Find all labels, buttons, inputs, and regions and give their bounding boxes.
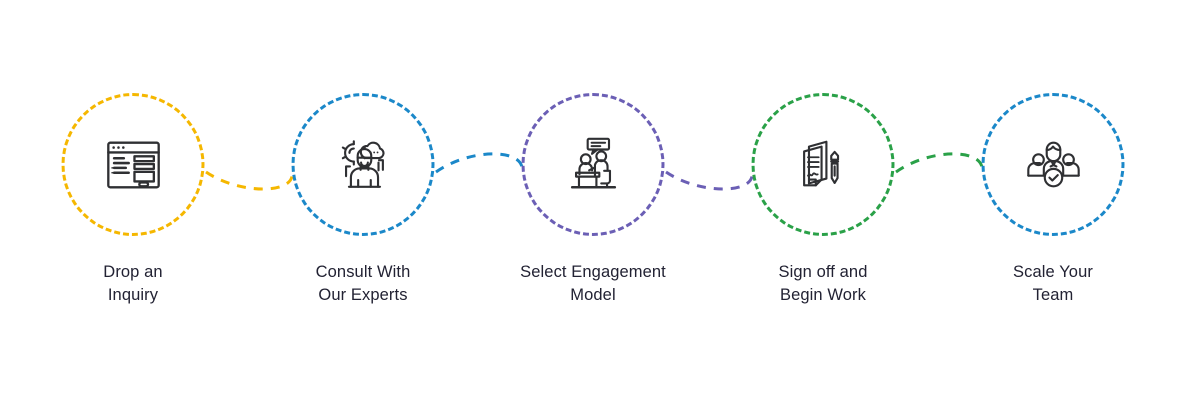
step-circle-2[interactable] bbox=[292, 93, 435, 236]
step-label-4: Sign off and Begin Work bbox=[723, 261, 923, 306]
step-circle-1[interactable] bbox=[62, 93, 205, 236]
step-label-3: Select Engagement Model bbox=[493, 261, 693, 306]
connector-1-2 bbox=[206, 172, 292, 189]
connector-4-5 bbox=[896, 154, 982, 172]
contract-pen-icon bbox=[792, 134, 854, 196]
step-label-5: Scale Your Team bbox=[953, 261, 1153, 306]
step-circle-5[interactable] bbox=[982, 93, 1125, 236]
step-label-1: Drop an Inquiry bbox=[33, 261, 233, 306]
connector-3-4 bbox=[666, 172, 752, 189]
step-label-2: Consult With Our Experts bbox=[263, 261, 463, 306]
browser-form-icon bbox=[102, 134, 164, 196]
meeting-desk-icon bbox=[562, 134, 624, 196]
team-verified-icon bbox=[1022, 134, 1084, 196]
step-circle-4[interactable] bbox=[752, 93, 895, 236]
connector-2-3 bbox=[436, 154, 522, 172]
process-flow-diagram: Drop an Inquiry bbox=[0, 0, 1200, 400]
expert-gear-cloud-icon bbox=[332, 134, 394, 196]
step-circle-3[interactable] bbox=[522, 93, 665, 236]
